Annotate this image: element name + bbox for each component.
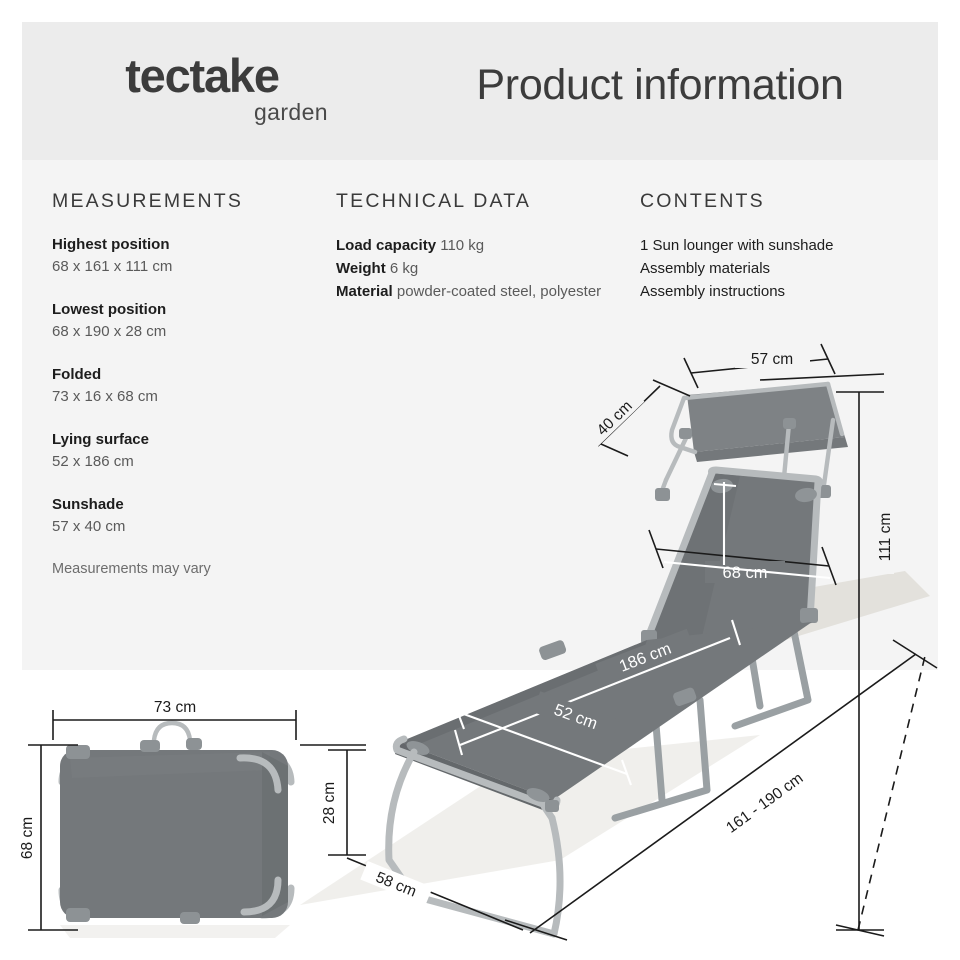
seat-adjuster-handle <box>538 639 567 661</box>
sunshade-joint-right <box>783 418 796 429</box>
folded-clip-bottom-mid <box>180 912 200 924</box>
dim-label-total-height: 111 cm <box>877 513 894 562</box>
product-information-sheet: tectake garden Product information MEASU… <box>0 0 960 960</box>
folded-clip-top-left <box>66 745 90 759</box>
sunshade-joint-left <box>679 428 692 439</box>
product-illustrations: 57 cm 40 cm 68 cm <box>0 0 960 960</box>
dim-label-folded-height: 68 cm <box>19 817 36 859</box>
dim-canopy-width: 57 cm <box>684 344 835 388</box>
sunshade-pivot-left <box>655 488 670 501</box>
folded-lounger-illustration: 73 cm 68 cm <box>15 695 296 938</box>
front-leg-hinge <box>545 800 559 812</box>
dim-label-canopy-width: 57 cm <box>751 351 793 368</box>
backrest-hinge-right <box>800 608 818 623</box>
dim-label-frame-height: 28 cm <box>321 782 338 824</box>
dim-folded-width: 73 cm <box>53 695 296 740</box>
dim-label-folded-width: 73 cm <box>154 699 196 716</box>
folded-clip-top-right <box>186 738 202 750</box>
open-lounger-illustration: 57 cm 40 cm 68 cm <box>300 344 937 940</box>
folded-clip-top-mid <box>140 740 160 752</box>
sunshade-arm-left <box>666 436 687 480</box>
dim-frame-height: 28 cm <box>300 745 366 855</box>
carry-handle <box>154 723 190 740</box>
folded-shadow <box>60 925 290 938</box>
folded-clip-bottom-left <box>66 908 90 922</box>
dim-label-frame-length: 161 - 190 cm <box>723 770 806 837</box>
dim-label-backrest-width: 68 cm <box>723 564 768 582</box>
